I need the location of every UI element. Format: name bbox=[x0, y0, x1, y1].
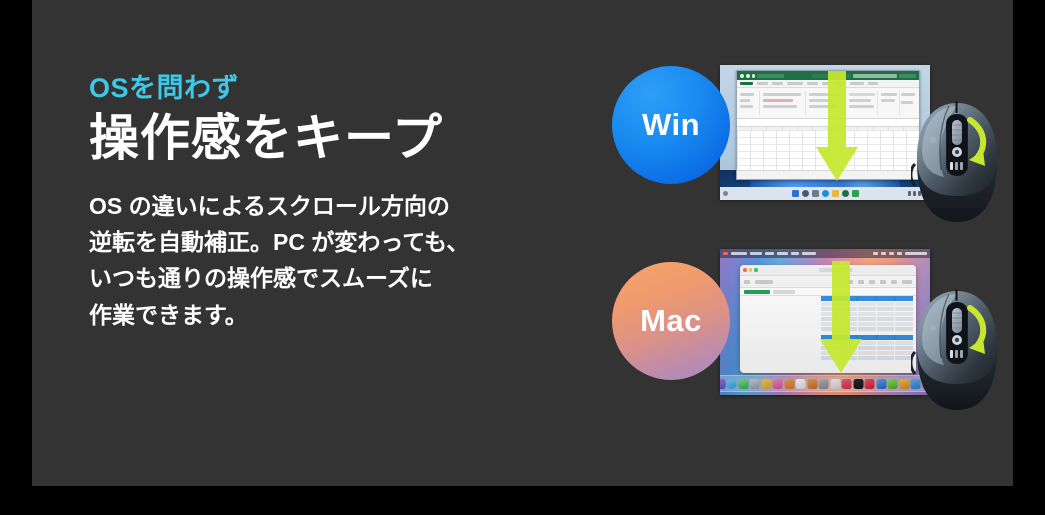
dock-notes-icon[interactable] bbox=[830, 379, 840, 389]
dock-reminders-icon[interactable] bbox=[819, 379, 829, 389]
dock-messages-icon[interactable] bbox=[738, 379, 748, 389]
close-icon[interactable] bbox=[743, 268, 747, 272]
footnote-area: ※不要な場合には、Macの設定より、マウス＞ナチュラルなスクロールからチェックを… bbox=[32, 432, 1013, 476]
dock-calendar-icon[interactable] bbox=[796, 379, 806, 389]
mac-document-window bbox=[740, 265, 916, 373]
dock-mail-icon[interactable] bbox=[750, 379, 760, 389]
dock-maps-icon[interactable] bbox=[761, 379, 771, 389]
dock-safari-icon[interactable] bbox=[727, 379, 737, 389]
document-text-column bbox=[740, 293, 821, 373]
windows-screen-preview bbox=[720, 65, 930, 200]
mac-window-title-bar bbox=[740, 265, 916, 276]
os-badge-win: Win bbox=[612, 66, 730, 184]
mac-window-toolbar[interactable] bbox=[740, 276, 916, 288]
dock-photos-icon[interactable] bbox=[773, 379, 783, 389]
taskbar-edge-icon[interactable] bbox=[822, 190, 829, 197]
mouse-icon-mac bbox=[911, 288, 1003, 413]
dock-facetime-icon[interactable] bbox=[784, 379, 794, 389]
os-badge-win-label: Win bbox=[642, 107, 700, 143]
taskbar-explorer-icon[interactable] bbox=[832, 190, 839, 197]
body-line-2: 逆転を自動補正。PC が変わっても、 bbox=[89, 224, 559, 260]
taskbar-excel-icon[interactable] bbox=[842, 190, 849, 197]
dock-launchpad-icon[interactable] bbox=[720, 379, 725, 389]
document-table-column bbox=[821, 293, 916, 373]
body-text: OS の違いによるスクロール方向の 逆転を自動補正。PC が変わっても、 いつも… bbox=[89, 188, 559, 333]
showcase-row-mac: Mac bbox=[585, 243, 1013, 423]
taskbar-store-icon[interactable] bbox=[852, 190, 859, 197]
body-line-1: OS の違いによるスクロール方向の bbox=[89, 188, 559, 224]
mac-desktop bbox=[720, 249, 930, 395]
dock-podcasts-icon[interactable] bbox=[865, 379, 875, 389]
mac-dock[interactable] bbox=[720, 375, 930, 392]
dock-appstore-icon[interactable] bbox=[876, 379, 886, 389]
excel-grid bbox=[737, 130, 919, 171]
dock-numbers-icon[interactable] bbox=[888, 379, 898, 389]
excel-formula-bar bbox=[737, 119, 919, 127]
dock-contacts-icon[interactable] bbox=[807, 379, 817, 389]
body-line-4: 作業できます。 bbox=[89, 297, 559, 333]
os-badge-mac-label: Mac bbox=[640, 303, 702, 339]
mac-window-body bbox=[740, 293, 916, 373]
eyebrow-text: OSを問わず bbox=[89, 74, 559, 104]
excel-ribbon-tabs bbox=[737, 80, 919, 88]
os-badge-mac: Mac bbox=[612, 262, 730, 380]
excel-status-bar bbox=[737, 170, 919, 179]
excel-window bbox=[736, 70, 920, 180]
mac-window-tabs[interactable] bbox=[740, 288, 916, 296]
taskbar-start-icon[interactable] bbox=[792, 190, 799, 197]
dock-music-icon[interactable] bbox=[842, 379, 852, 389]
windows-desktop bbox=[720, 65, 930, 200]
promo-banner: OSを問わず 操作感をキープ OS の違いによるスクロール方向の 逆転を自動補正… bbox=[0, 0, 1045, 515]
taskbar-search-icon[interactable] bbox=[802, 190, 809, 197]
mac-menu-bar[interactable] bbox=[720, 249, 930, 258]
showcase-row-windows: Win bbox=[585, 52, 1013, 227]
dock-keynote-icon[interactable] bbox=[899, 379, 909, 389]
taskbar-taskview-icon[interactable] bbox=[812, 190, 819, 197]
page-title: 操作感をキープ bbox=[89, 110, 559, 166]
mouse-icon-win bbox=[911, 100, 1003, 225]
copy-block: OSを問わず 操作感をキープ OS の違いによるスクロール方向の 逆転を自動補正… bbox=[89, 74, 559, 333]
windows-taskbar[interactable] bbox=[720, 187, 930, 200]
content-panel: OSを問わず 操作感をキープ OS の違いによるスクロール方向の 逆転を自動補正… bbox=[32, 0, 1013, 486]
minimize-icon[interactable] bbox=[749, 268, 753, 272]
excel-ribbon bbox=[737, 88, 919, 119]
mac-screen-preview bbox=[720, 249, 930, 395]
maximize-icon[interactable] bbox=[754, 268, 758, 272]
dock-tv-icon[interactable] bbox=[853, 379, 863, 389]
body-line-3: いつも通りの操作感でスムーズに bbox=[89, 260, 559, 296]
excel-title-bar bbox=[737, 71, 919, 80]
